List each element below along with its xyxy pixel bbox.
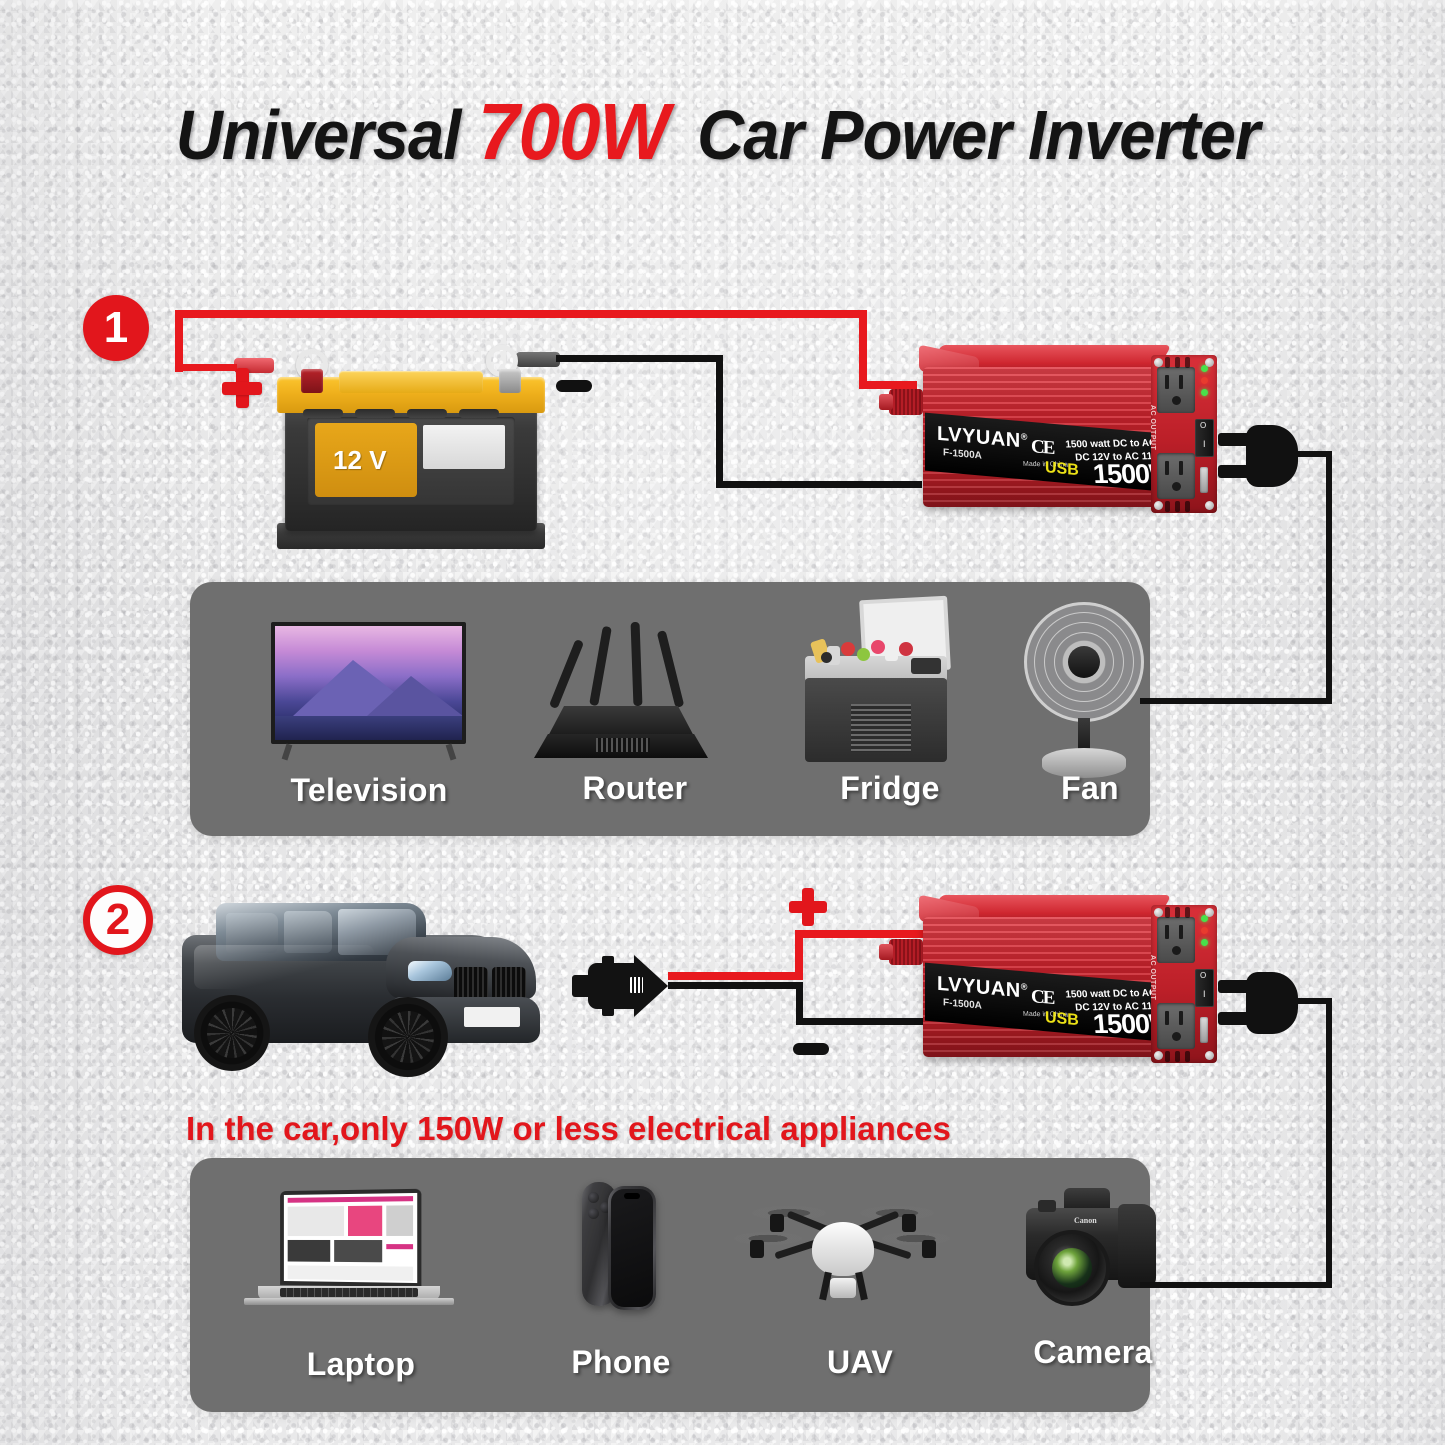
router-vents: [596, 738, 650, 752]
tv-screen: [271, 622, 466, 744]
drone-motor-4: [922, 1240, 936, 1258]
appliance-label-laptop: Laptop: [236, 1346, 486, 1383]
power-switch[interactable]: [1195, 969, 1214, 1007]
power-inverter-1: LVYUAN® F-1500A CE Made in China 1500 wa…: [915, 345, 1215, 525]
vent-slot: [1165, 1051, 1170, 1062]
wire-red-positive-horizontal-top: [175, 310, 867, 318]
wire-red-positive-vertical-right: [859, 310, 867, 388]
car-wheel-rear: [194, 995, 270, 1071]
screen-hero: [348, 1206, 382, 1236]
phone-screen: [611, 1189, 653, 1307]
router-antenna-4: [657, 630, 685, 708]
router-icon: Router: [510, 610, 760, 810]
panel2-caption: In the car,only 150W or less electrical …: [186, 1110, 951, 1148]
plug-body: [1246, 972, 1298, 1034]
battery-cell-cap: [407, 409, 447, 418]
screen-topbar: [288, 1196, 413, 1203]
vent-slot: [1175, 1051, 1180, 1062]
ce-mark-icon: CE: [1031, 986, 1053, 1010]
fridge-grill: [851, 704, 911, 752]
battery-cell-cap: [459, 409, 499, 418]
dc-positive-symbol-2: [789, 888, 827, 926]
battery-terminal-positive: [301, 369, 323, 393]
phone-front: [608, 1186, 656, 1310]
wire-red-positive-vertical-left: [175, 310, 183, 372]
fridge-item-grape: [821, 652, 832, 663]
screen-tile-2: [334, 1240, 382, 1262]
registered-mark: ®: [1021, 981, 1028, 992]
vent-slot: [1175, 357, 1180, 368]
power-switch[interactable]: [1195, 419, 1214, 457]
battery-top-ridge: [339, 371, 483, 393]
inverter-model: F-1500A: [943, 447, 982, 461]
fan-icon: Fan: [990, 602, 1190, 810]
cig-plug-wing-bottom: [602, 1007, 614, 1016]
ac-output-label: AC OUTPUT: [1149, 405, 1156, 450]
appliance-panel-2: Laptop Phone UAV: [190, 1158, 1150, 1412]
page-title: Universal 700W Car Power Inverter: [0, 86, 1445, 178]
camera-lens-glass: [1052, 1248, 1092, 1288]
camera-shutter-button: [1038, 1200, 1056, 1212]
battery-cell-cap: [303, 409, 343, 418]
wire-black-negative-horizontal-top: [556, 355, 722, 362]
screen-cta: [386, 1244, 413, 1249]
screw: [1154, 501, 1163, 510]
appliance-label-fan: Fan: [990, 770, 1190, 807]
led-indicator-red: [1201, 377, 1208, 384]
vent-slot: [1165, 357, 1170, 368]
camera-grip: [1118, 1204, 1156, 1288]
wire-red-positive-to-inverter: [859, 381, 917, 389]
appliance-label-router: Router: [510, 770, 760, 807]
car-wheel-front: [368, 997, 448, 1077]
drone-icon: UAV: [730, 1196, 990, 1382]
laptop-screen: [284, 1193, 417, 1283]
cig-plug-indicator: [630, 977, 643, 993]
inverter-usb-label: USB: [1045, 1009, 1079, 1030]
screen-sidebar: [386, 1205, 413, 1236]
car-license-plate: [464, 1007, 520, 1027]
wire-red-2-to-inverter: [795, 930, 923, 938]
battery-white-label: [423, 425, 505, 469]
inverter-model: F-1500A: [943, 997, 982, 1011]
inverter-front-face: AC OUTPUT: [1151, 355, 1217, 513]
ac-outlet-top[interactable]: [1157, 917, 1195, 963]
inverter-usb-label: USB: [1045, 459, 1079, 480]
laptop-icon: Laptop: [236, 1190, 486, 1380]
wire-ac-1-vertical: [1326, 451, 1332, 704]
screw: [1154, 358, 1163, 367]
laptop-keyboard: [280, 1288, 418, 1297]
appliance-label-phone: Phone: [496, 1344, 746, 1381]
car-rim-front: [382, 1011, 434, 1063]
phone-camera-3: [588, 1208, 599, 1219]
router-antenna-3: [631, 622, 643, 706]
drone-leg-right: [855, 1272, 868, 1301]
router-antenna-1: [549, 639, 584, 709]
ac-output-label: AC OUTPUT: [1149, 955, 1156, 1000]
ce-mark-icon: CE: [1031, 436, 1053, 460]
ac-outlet-bottom[interactable]: [1157, 453, 1195, 499]
car-grille-right: [492, 967, 526, 1001]
title-part-1: Universal: [175, 95, 460, 175]
cig-plug-wing-top: [602, 956, 614, 965]
appliance-panel-1: Television Router Fridge: [190, 582, 1150, 836]
drone-propeller-4: [882, 1232, 950, 1245]
ac-outlet-top[interactable]: [1157, 367, 1195, 413]
tv-leg-left: [282, 743, 293, 760]
title-highlight-700w: 700W: [478, 86, 669, 178]
drone-motor-1: [770, 1214, 784, 1232]
wire-ac-1-to-panel: [1140, 698, 1332, 704]
inverter-spec-line-1: 1500 watt DC to AC power inverter: [1065, 437, 1161, 451]
phone-icon: Phone: [496, 1182, 746, 1380]
television-icon: Television: [244, 622, 494, 807]
car-body-highlight: [194, 945, 374, 989]
fan-hub: [1068, 646, 1100, 678]
fridge-item-fruit: [871, 640, 885, 654]
appliance-label-fridge: Fridge: [765, 770, 1015, 807]
usb-port[interactable]: [1200, 1017, 1208, 1043]
appliance-label-uav: UAV: [730, 1344, 990, 1381]
plug-body: [1246, 425, 1298, 487]
appliance-label-camera: Camera: [978, 1334, 1208, 1371]
camera-brand: Canon: [1074, 1216, 1097, 1225]
car-battery: 12 V: [277, 365, 545, 555]
battery-voltage-panel: 12 V: [315, 423, 417, 497]
registered-mark: ®: [1021, 431, 1028, 442]
title-part-2: Car Power Inverter: [697, 95, 1259, 175]
phone-camera-1: [588, 1192, 599, 1203]
phone-notch: [624, 1193, 640, 1199]
drone-propeller-3: [734, 1232, 802, 1245]
drone-body: [812, 1222, 874, 1276]
dc-negative-symbol-2: [793, 1043, 829, 1055]
battery-cell-cap: [355, 409, 395, 418]
inverter-spec-line-1: 1500 watt DC to AC power inverter: [1065, 987, 1161, 1001]
fridge-item-apple: [841, 642, 855, 656]
inverter-front-face: AC OUTPUT: [1151, 905, 1217, 1063]
screw: [1205, 1051, 1214, 1060]
dc-input-barrel: [889, 389, 923, 415]
ac-power-plug-1: [1218, 425, 1308, 487]
drone-motor-3: [750, 1240, 764, 1258]
battery-negative-symbol: [556, 380, 592, 392]
vent-slot: [1175, 907, 1180, 918]
cigarette-lighter-plug: [572, 955, 677, 1017]
step-badge-1: 1: [83, 295, 149, 361]
drone-gimbal-camera: [830, 1278, 856, 1298]
ac-outlet-bottom[interactable]: [1157, 1003, 1195, 1049]
battery-positive-symbol: [222, 368, 262, 408]
car-grille-left: [454, 967, 488, 1001]
screw: [1154, 908, 1163, 917]
led-indicator-red: [1201, 927, 1208, 934]
step-badge-2: 2: [83, 885, 153, 955]
power-inverter-2: LVYUAN® F-1500A CE Made in China 1500 wa…: [915, 895, 1215, 1075]
screen-block: [288, 1206, 344, 1236]
vent-slot: [1185, 357, 1190, 368]
vent-slot: [1175, 501, 1180, 512]
wire-black-negative-vertical: [716, 355, 723, 488]
led-indicator-green-2: [1201, 389, 1208, 396]
wire-ac-2-to-panel: [1140, 1282, 1332, 1288]
screw: [1154, 1051, 1163, 1060]
wire-black-2-to-inverter: [796, 1018, 924, 1025]
screw: [1205, 908, 1214, 917]
camera-lens: [1034, 1230, 1110, 1306]
screw: [1205, 501, 1214, 510]
battery-body: 12 V: [285, 401, 537, 531]
tv-leg-right: [446, 743, 457, 760]
screen-footer: [288, 1265, 413, 1281]
battery-terminal-negative: [499, 369, 521, 393]
led-indicator-green-2: [1201, 939, 1208, 946]
dc-input-barrel: [889, 939, 923, 965]
drone-motor-2: [902, 1214, 916, 1232]
tv-mountain-2: [367, 676, 463, 716]
vent-slot: [1165, 907, 1170, 918]
car-headlight: [408, 961, 452, 981]
fridge-item-carton: [885, 646, 898, 661]
wire-black-negative-to-inverter: [716, 481, 922, 488]
wire-red-2-horizontal: [668, 972, 803, 980]
vent-slot: [1185, 501, 1190, 512]
router-antenna-2: [589, 626, 612, 706]
fridge-item-lime: [857, 648, 870, 661]
fridge-handle: [911, 658, 941, 674]
wire-black-2-horizontal: [668, 982, 803, 989]
vent-slot: [1185, 1051, 1190, 1062]
fridge-item-tomato: [899, 642, 913, 656]
ac-power-plug-2: [1218, 972, 1308, 1034]
vent-slot: [1165, 501, 1170, 512]
appliance-label-television: Television: [244, 772, 494, 809]
vent-slot: [1185, 907, 1190, 918]
screen-tile-1: [288, 1240, 331, 1262]
battery-voltage-label: 12 V: [333, 445, 387, 476]
usb-port[interactable]: [1200, 467, 1208, 493]
fridge-icon: Fridge: [765, 596, 1015, 810]
battery-inner-panel: 12 V: [307, 417, 515, 505]
laptop-foot: [244, 1298, 454, 1305]
tv-water: [275, 716, 462, 740]
laptop-lid: [280, 1189, 421, 1287]
car-rim-rear: [207, 1008, 257, 1058]
battery-top-cover: [277, 377, 545, 413]
screw: [1205, 358, 1214, 367]
suv-car: [172, 885, 572, 1100]
wire-ac-2-vertical: [1326, 998, 1332, 1288]
